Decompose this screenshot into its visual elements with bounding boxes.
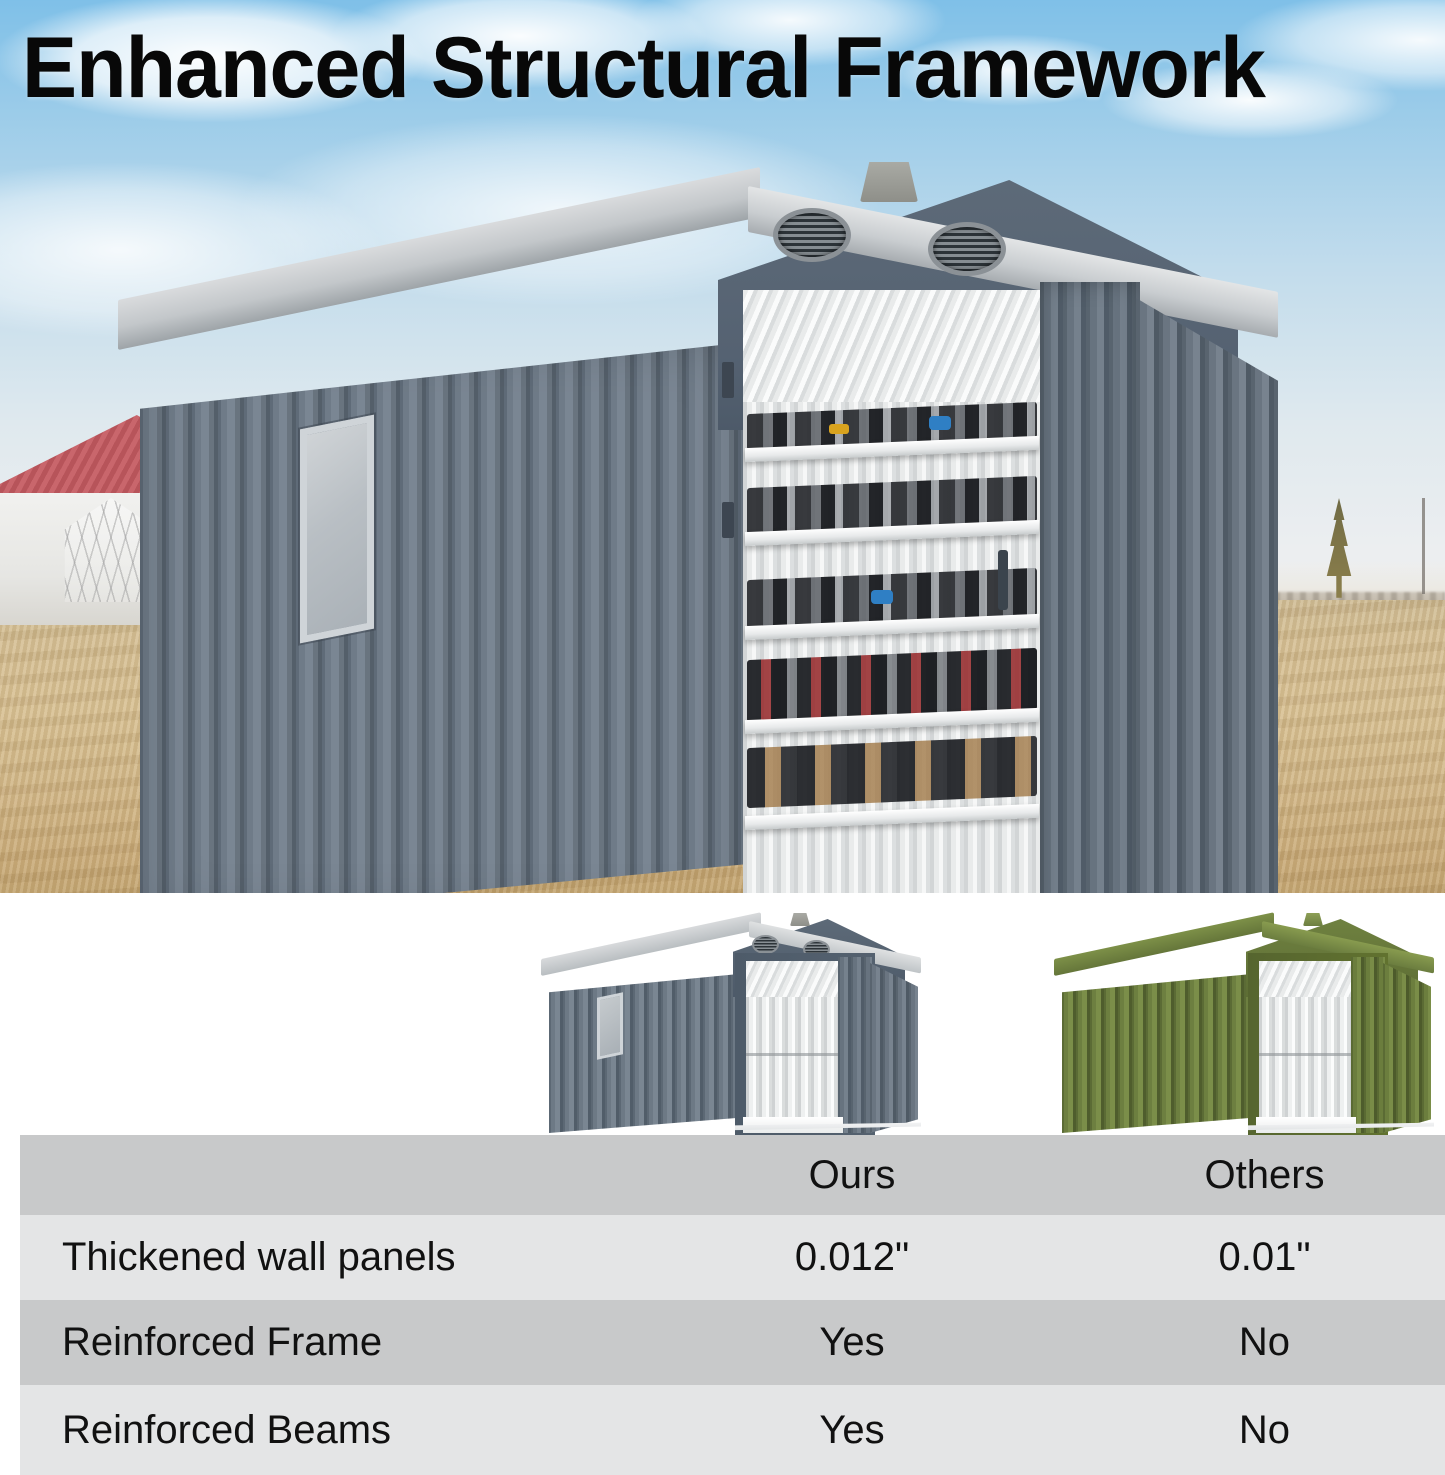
shed-roof-left — [118, 167, 760, 350]
table-row: Reinforced Frame Yes No — [20, 1300, 1445, 1385]
blue-tool-accent-2 — [871, 590, 893, 604]
product-comparison-images — [0, 893, 1445, 1135]
shed-door-handle — [998, 550, 1008, 610]
shelf-contents-5 — [747, 736, 1037, 808]
interior-roof — [743, 290, 1041, 402]
ours-wall-left — [549, 973, 749, 1133]
row-ours-value: Yes — [642, 1300, 1062, 1385]
header-cell-others: Others — [1062, 1135, 1445, 1215]
row-others-value: No — [1062, 1385, 1445, 1475]
shed-ridge-cap — [860, 162, 918, 202]
table-row: Reinforced Beams Yes No — [20, 1385, 1445, 1475]
ours-interior-roof — [746, 961, 839, 997]
others-interior-roof — [1259, 961, 1352, 997]
door-hinge-top — [722, 362, 734, 398]
row-others-value: 0.01" — [1062, 1215, 1445, 1300]
main-shed — [118, 150, 1278, 870]
blue-tool-accent — [929, 416, 951, 430]
page-title: Enhanced Structural Framework — [22, 25, 1265, 111]
utility-pole — [1422, 498, 1425, 594]
ours-door-panel — [838, 957, 872, 1133]
others-door-panel — [1351, 957, 1385, 1133]
others-interior-midline — [1259, 1053, 1352, 1056]
header-cell-blank — [20, 1135, 642, 1215]
shed-vent-right — [928, 222, 1006, 276]
shed-door-opening — [743, 290, 1041, 893]
row-label: Reinforced Beams — [20, 1385, 642, 1475]
ours-wall-right — [870, 963, 918, 1133]
others-roof-left — [1054, 912, 1274, 976]
others-ridge-cap — [1303, 913, 1323, 926]
shed-wall-right — [1136, 298, 1278, 893]
ours-vent-left — [752, 935, 779, 954]
shed-vent-left — [773, 208, 851, 262]
ours-shed-image — [535, 913, 915, 1128]
header-cell-ours: Ours — [642, 1135, 1062, 1215]
others-door-opening — [1259, 961, 1352, 1133]
shed-door-panel — [1040, 282, 1140, 893]
row-others-value: No — [1062, 1300, 1445, 1385]
shed-wall-left — [140, 342, 748, 893]
others-wall-left — [1062, 973, 1262, 1133]
ours-ridge-cap — [790, 913, 810, 926]
others-wall-right — [1383, 963, 1431, 1133]
row-label: Thickened wall panels — [20, 1215, 642, 1300]
yellow-tool-accent — [829, 424, 849, 434]
ours-roof-left — [541, 912, 761, 976]
hero-image: Enhanced Structural Framework — [0, 0, 1445, 893]
ours-door-opening — [746, 961, 839, 1133]
ours-interior-midline — [746, 1053, 839, 1056]
row-label: Reinforced Frame — [20, 1300, 642, 1385]
others-shed-image — [1048, 913, 1428, 1128]
row-ours-value: Yes — [642, 1385, 1062, 1475]
table-row: Thickened wall panels 0.012" 0.01" — [20, 1215, 1445, 1300]
ours-window — [597, 992, 623, 1060]
table-header-row: Ours Others — [20, 1135, 1445, 1215]
shed-window — [300, 415, 374, 644]
comparison-table: Ours Others Thickened wall panels 0.012"… — [20, 1135, 1445, 1475]
row-ours-value: 0.012" — [642, 1215, 1062, 1300]
door-hinge-bottom — [722, 502, 734, 538]
